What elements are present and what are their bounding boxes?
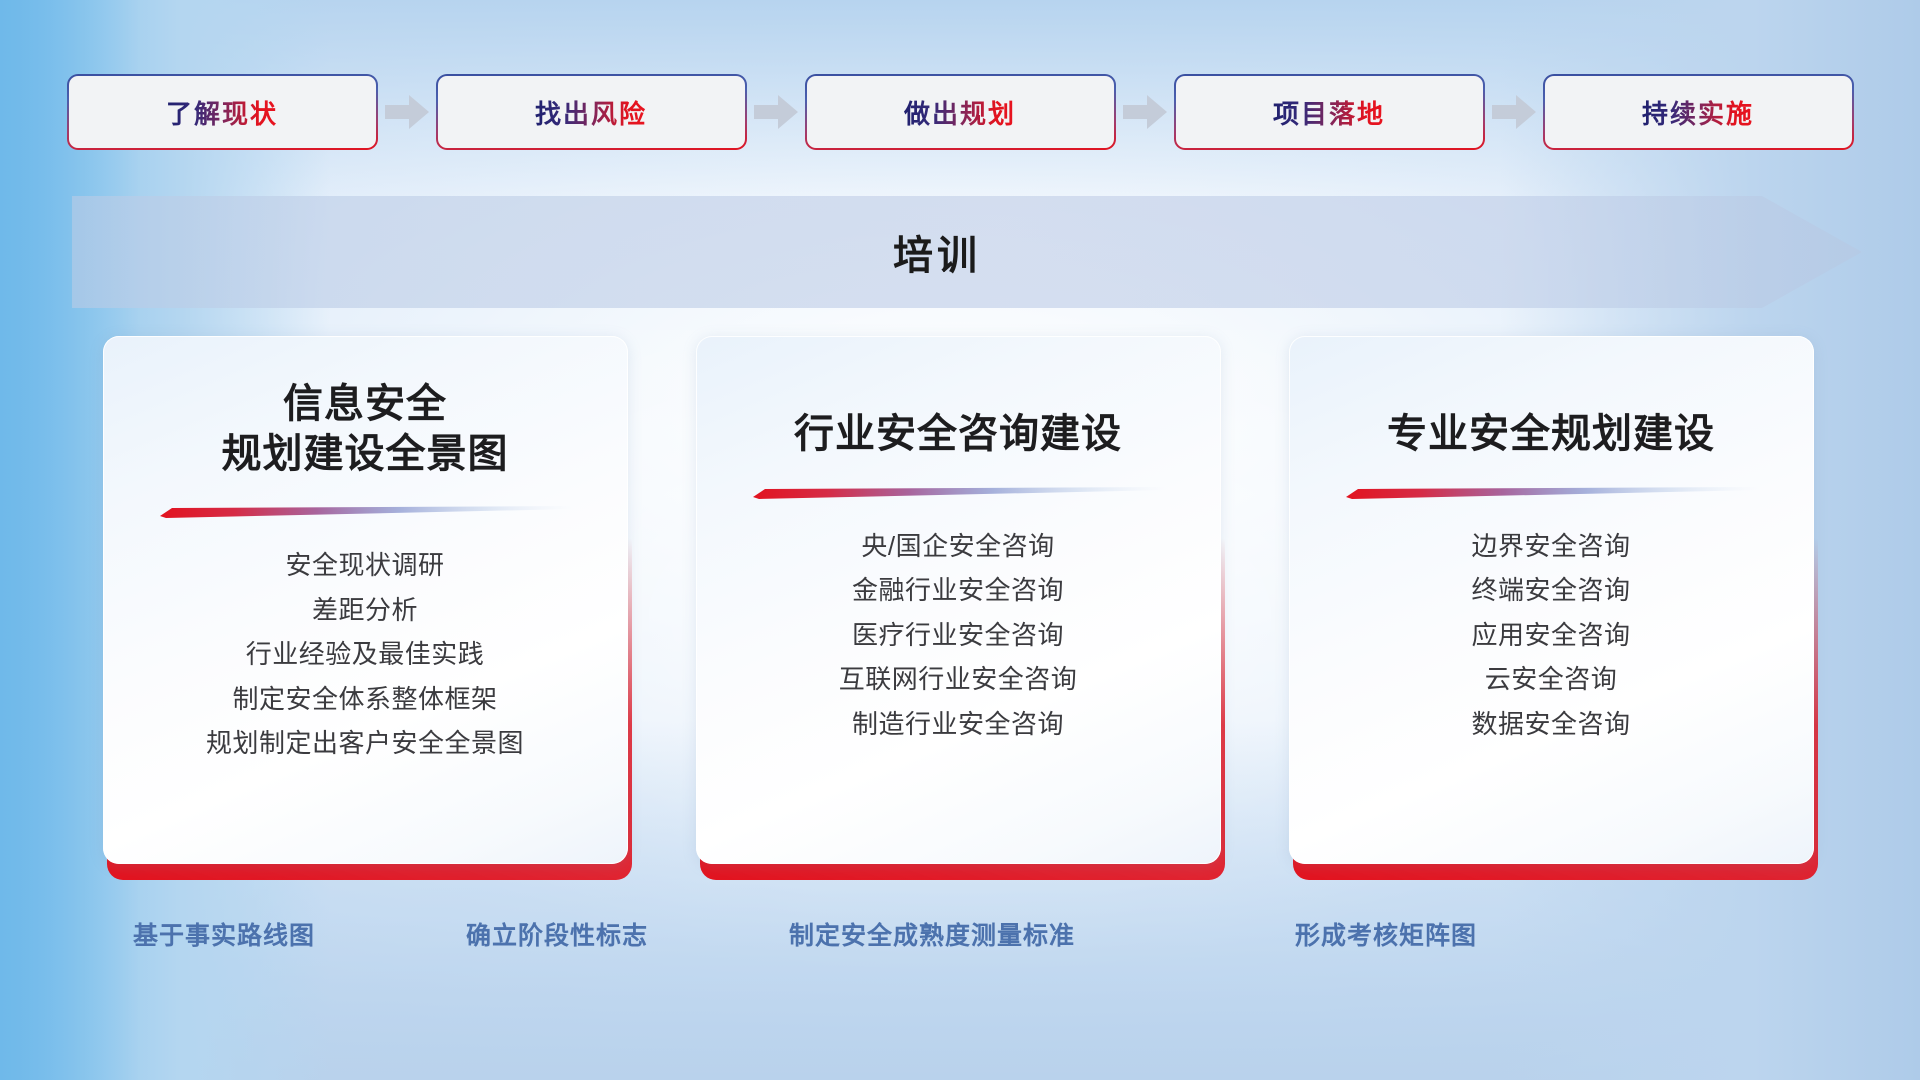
card-list-item: 互联网行业安全咨询 xyxy=(839,663,1078,696)
card-title: 行业安全咨询建设 xyxy=(794,410,1122,460)
arrow-right-icon xyxy=(376,76,438,148)
card-divider xyxy=(1342,486,1760,500)
footnote-row: 基于事实路线图确立阶段性标志制定安全成熟度测量标准形成考核矩阵图 xyxy=(0,916,1920,960)
process-step-2[interactable]: 找出风险 xyxy=(438,76,745,148)
card-list-item: 行业经验及最佳实践 xyxy=(246,638,485,671)
card-body: 专业安全规划建设 边界安全咨询终端安全咨询应用安全咨询云安全咨询数据安全咨询 xyxy=(1289,336,1814,864)
card-list-item: 医疗行业安全咨询 xyxy=(852,619,1064,652)
card-body: 信息安全 规划建设全景图 安全现状调研差距分析行业经验及最佳实践制定安全体系整体… xyxy=(103,336,628,864)
info-card[interactable]: 专业安全规划建设 边界安全咨询终端安全咨询应用安全咨询云安全咨询数据安全咨询 xyxy=(1289,336,1818,880)
info-card[interactable]: 行业安全咨询建设 央/国企安全咨询金融行业安全咨询医疗行业安全咨询互联网行业安全… xyxy=(696,336,1225,880)
process-step-label: 做出规划 xyxy=(904,94,1016,131)
process-step-3[interactable]: 做出规划 xyxy=(807,76,1114,148)
card-list-item: 制定安全体系整体框架 xyxy=(232,683,497,716)
banner-title: 培训 xyxy=(72,196,1802,308)
card-list-item: 金融行业安全咨询 xyxy=(852,574,1064,607)
card-row: 信息安全 规划建设全景图 安全现状调研差距分析行业经验及最佳实践制定安全体系整体… xyxy=(0,336,1920,880)
process-step-label: 了解现状 xyxy=(166,94,278,131)
card-list-item: 规划制定出客户安全全景图 xyxy=(206,727,524,760)
slide-stage: 了解现状 找出风险 做出规划 项目落地 持续实施 培训 信息安全 xyxy=(0,0,1920,1080)
info-card[interactable]: 信息安全 规划建设全景图 安全现状调研差距分析行业经验及最佳实践制定安全体系整体… xyxy=(103,336,632,880)
arrow-right-icon xyxy=(1114,76,1176,148)
process-step-1[interactable]: 了解现状 xyxy=(69,76,376,148)
card-title: 专业安全规划建设 xyxy=(1387,410,1715,460)
card-item-list: 边界安全咨询终端安全咨询应用安全咨询云安全咨询数据安全咨询 xyxy=(1323,530,1780,763)
footnote-label: 制定安全成熟度测量标准 xyxy=(789,916,1075,952)
card-body: 行业安全咨询建设 央/国企安全咨询金融行业安全咨询医疗行业安全咨询互联网行业安全… xyxy=(696,336,1221,864)
footnote-label: 基于事实路线图 xyxy=(133,916,315,952)
card-list-item: 安全现状调研 xyxy=(285,549,444,582)
card-list-item: 数据安全咨询 xyxy=(1471,708,1630,741)
process-step-5[interactable]: 持续实施 xyxy=(1545,76,1852,148)
card-divider xyxy=(156,505,574,519)
card-divider xyxy=(749,486,1167,500)
process-step-label: 找出风险 xyxy=(535,94,647,131)
card-item-list: 安全现状调研差距分析行业经验及最佳实践制定安全体系整体框架规划制定出客户安全全景… xyxy=(137,549,594,782)
footnote-label: 形成考核矩阵图 xyxy=(1295,916,1477,952)
card-item-list: 央/国企安全咨询金融行业安全咨询医疗行业安全咨询互联网行业安全咨询制造行业安全咨… xyxy=(730,530,1187,763)
card-list-item: 边界安全咨询 xyxy=(1471,530,1630,563)
process-step-row: 了解现状 找出风险 做出规划 项目落地 持续实施 xyxy=(0,76,1920,148)
process-step-label: 项目落地 xyxy=(1273,94,1385,131)
card-title: 信息安全 规划建设全景图 xyxy=(222,380,509,479)
footnote-label: 确立阶段性标志 xyxy=(466,916,648,952)
arrow-right-icon xyxy=(745,76,807,148)
arrow-right-icon xyxy=(1483,76,1545,148)
process-step-4[interactable]: 项目落地 xyxy=(1176,76,1483,148)
card-list-item: 差距分析 xyxy=(312,594,418,627)
training-banner: 培训 xyxy=(72,196,1862,308)
card-list-item: 制造行业安全咨询 xyxy=(852,708,1064,741)
card-list-item: 终端安全咨询 xyxy=(1471,574,1630,607)
card-list-item: 应用安全咨询 xyxy=(1471,619,1630,652)
card-list-item: 央/国企安全咨询 xyxy=(861,530,1054,563)
process-step-label: 持续实施 xyxy=(1642,94,1754,131)
card-list-item: 云安全咨询 xyxy=(1485,663,1618,696)
